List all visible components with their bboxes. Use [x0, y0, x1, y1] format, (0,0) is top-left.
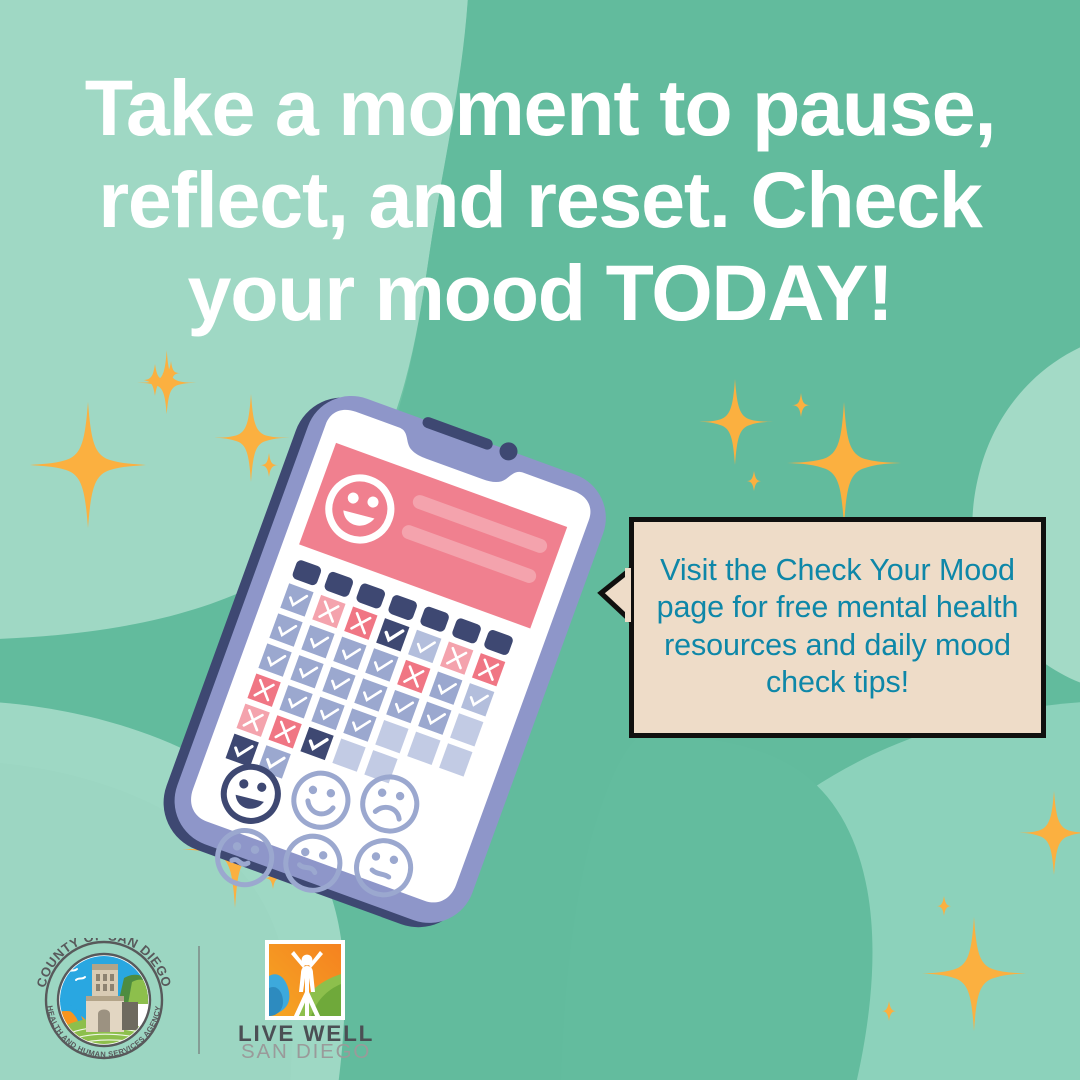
sparkle-diamond-left-upper [160, 360, 182, 386]
footer-logo-bar: COUNTY OF SAN DIEGO HEALTH AND HUMAN SER… [0, 920, 1080, 1080]
headline-line-3: your mood TODAY! [36, 247, 1044, 339]
page-title: Take a moment to pause, reflect, and res… [0, 62, 1080, 339]
sparkle-star-right-lower-small [1015, 790, 1080, 876]
mood-app-phone-illustration [185, 395, 705, 955]
live-well-san-diego-logo: LIVE WELL SAN DIEGO [225, 940, 385, 1060]
logo-divider [198, 946, 200, 1054]
headline-line-2: reflect, and reset. Check [36, 154, 1044, 246]
speech-bubble: Visit the Check Your Mood page for free … [629, 517, 1046, 738]
speech-bubble-tail [595, 567, 631, 623]
poster-canvas: Take a moment to pause, reflect, and res… [0, 0, 1080, 1080]
headline-line-1: Take a moment to pause, [36, 62, 1044, 154]
sparkle-diamond-right-upper-low [745, 470, 763, 492]
speech-bubble-text: Visit the Check Your Mood page for free … [629, 517, 1046, 738]
sparkle-star-right-upper-large [785, 400, 903, 528]
live-well-line2: SAN DIEGO [241, 1040, 371, 1060]
sparkle-star-right-upper-small [695, 378, 775, 466]
sparkle-diamond-right-lower [935, 895, 953, 917]
county-of-san-diego-seal: COUNTY OF SAN DIEGO HEALTH AND HUMAN SER… [28, 938, 180, 1062]
